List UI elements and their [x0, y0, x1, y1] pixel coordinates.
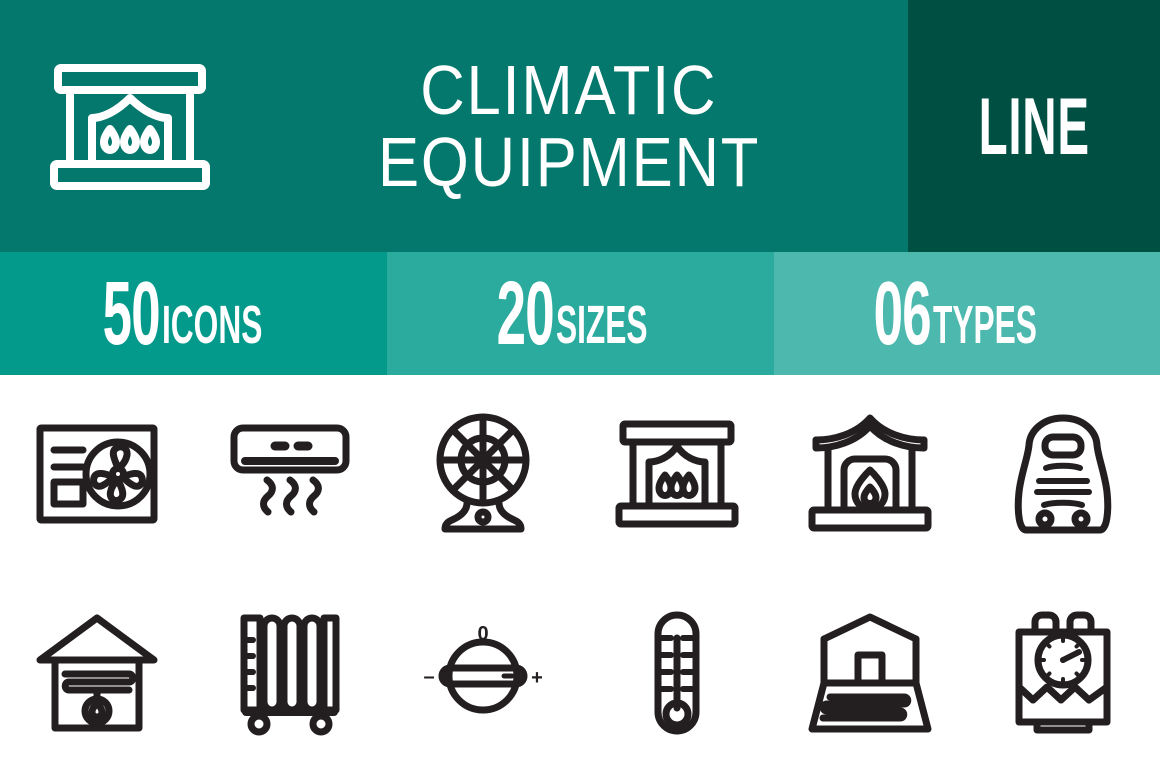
stats-bar: 50 ICONS 20 SIZES 06 TYPES [0, 252, 1160, 375]
stat-sizes-label: SIZES [556, 299, 648, 353]
header: CLIMATIC EQUIPMENT LINE [0, 0, 1160, 252]
stat-icons-label: ICONS [162, 299, 262, 353]
fireplace-icon [615, 418, 739, 530]
title-line-2: EQUIPMENT [378, 129, 760, 196]
oil-radiator-icon [234, 610, 346, 736]
style-badge-label: LINE [978, 86, 1089, 167]
stat-sizes: 20 SIZES [387, 252, 774, 375]
icon-cell [387, 375, 580, 574]
split-air-conditioner-icon [228, 420, 352, 528]
underfloor-heating-icon [808, 611, 932, 735]
icon-cell [967, 375, 1160, 574]
icon-cell [193, 375, 386, 574]
house-heating-icon [35, 612, 159, 734]
table-fan-icon [427, 412, 539, 536]
thermostat-mark-left: – [424, 666, 435, 688]
icon-cell [0, 574, 193, 772]
thermostat-mark-top: 0 [478, 623, 489, 645]
stat-icons: 50 ICONS [0, 252, 387, 375]
thermostat-knob-icon: 0 – + [420, 618, 546, 728]
title-line-1: CLIMATIC [421, 57, 718, 124]
fireplace-mantel-flame-icon [808, 414, 932, 534]
icon-set-preview: CLIMATIC EQUIPMENT LINE 50 ICONS 20 SIZE… [0, 0, 1160, 772]
portable-heater-icon [1008, 412, 1118, 536]
stat-types-label: TYPES [933, 299, 1037, 353]
icon-cell [773, 574, 966, 772]
air-conditioner-outdoor-unit-icon [35, 423, 159, 525]
header-main-panel: CLIMATIC EQUIPMENT [0, 0, 908, 252]
stat-types-number: 06 [873, 269, 930, 359]
icon-cell [580, 375, 773, 574]
icon-cell [0, 375, 193, 574]
icon-grid: 0 – + [0, 375, 1160, 772]
stat-icons-number: 50 [103, 269, 160, 359]
icon-cell: 0 – + [387, 574, 580, 772]
thermostat-mark-right: + [531, 667, 543, 689]
style-badge: LINE [908, 0, 1160, 252]
set-title: CLIMATIC EQUIPMENT [230, 0, 908, 252]
fireplace-icon [30, 50, 230, 202]
stat-sizes-number: 20 [496, 269, 553, 359]
icon-cell [193, 574, 386, 772]
icon-cell [967, 574, 1160, 772]
icon-cell [580, 574, 773, 772]
thermometer-icon [648, 610, 706, 736]
icon-cell [773, 375, 966, 574]
stat-types: 06 TYPES [774, 252, 1160, 375]
boiler-gauge-icon [1011, 608, 1115, 738]
